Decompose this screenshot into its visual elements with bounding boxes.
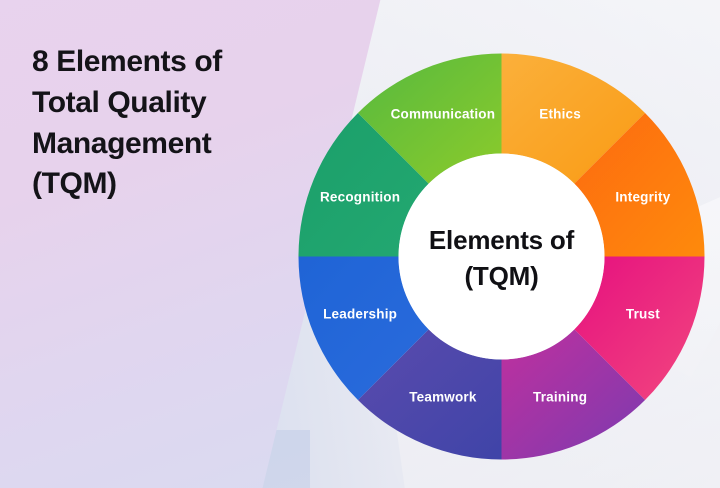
title-line-2: Total Quality [32, 83, 302, 124]
hub-line-1: Elements of [429, 225, 575, 255]
tqm-donut-chart: Elements of (TQM) EthicsIntegrityTrustTr… [298, 53, 705, 460]
title-line-3: Management [32, 124, 302, 165]
segment-label-communication: Communication [391, 107, 496, 122]
hub-line-2: (TQM) [464, 261, 538, 291]
segment-label-ethics: Ethics [539, 107, 581, 122]
wheel-hub: Elements of (TQM) [399, 154, 605, 360]
title-line-4: (TQM) [32, 164, 302, 205]
segment-label-teamwork: Teamwork [409, 389, 477, 404]
segment-label-trust: Trust [626, 307, 660, 322]
segment-label-recognition: Recognition [320, 189, 400, 204]
hub-circle [399, 154, 605, 360]
page-title: 8 Elements of Total Quality Management (… [32, 42, 302, 205]
segment-label-leadership: Leadership [323, 307, 397, 322]
segment-label-training: Training [533, 389, 587, 404]
infographic-canvas: 8 Elements of Total Quality Management (… [0, 0, 720, 488]
segment-label-integrity: Integrity [615, 189, 670, 204]
tqm-wheel-svg: Elements of (TQM) EthicsIntegrityTrustTr… [298, 53, 705, 460]
title-line-1: 8 Elements of [32, 42, 302, 83]
